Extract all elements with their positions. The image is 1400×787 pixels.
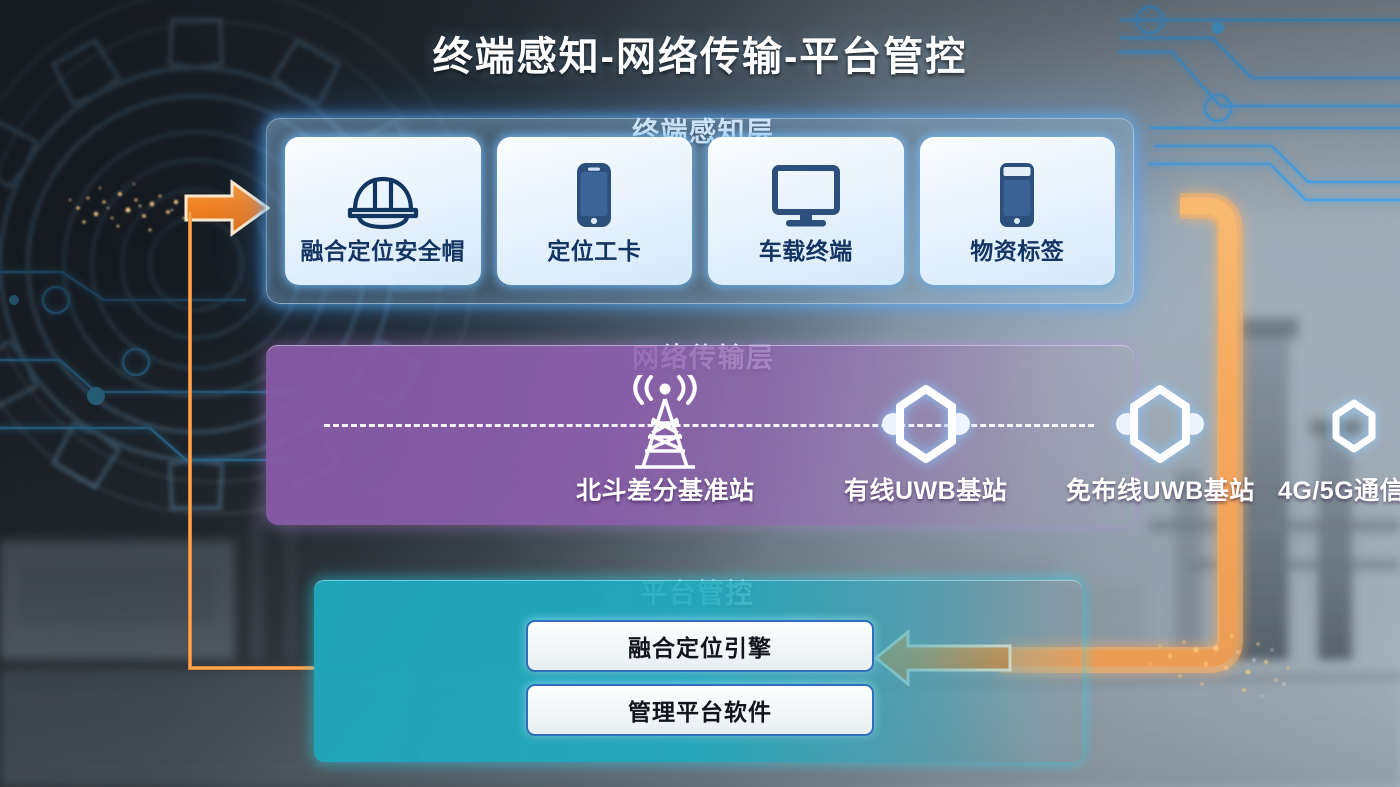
platform-button-software[interactable]: 管理平台软件 — [526, 684, 874, 736]
slide-title: 终端感知-网络传输-平台管控 — [0, 24, 1400, 82]
hexagon-node-icon — [1105, 375, 1215, 471]
network-node-wired-uwb[interactable]: 有线UWB基站 — [844, 375, 1007, 507]
terminal-card-vehicle[interactable]: 车载终端 — [708, 137, 904, 285]
slide-canvas: 终端感知-网络传输-平台管控 终端感知层 融合定位安全帽 — [0, 0, 1400, 787]
terminal-card-label: 物资标签 — [970, 232, 1064, 266]
platform-button-list: 融合定位引擎 管理平台软件 — [526, 620, 874, 736]
desktop-monitor-icon — [769, 156, 843, 230]
hexagon-small-icon — [1325, 375, 1383, 471]
network-node-wireless-uwb[interactable]: 免布线UWB基站 — [1066, 375, 1255, 507]
network-node-cellular[interactable]: 4G/5G通信路 — [1278, 375, 1400, 507]
tag-device-icon — [994, 156, 1040, 230]
platform-button-engine[interactable]: 融合定位引擎 — [526, 620, 874, 672]
mobile-phone-icon — [571, 156, 617, 230]
terminal-card-badge[interactable]: 定位工卡 — [497, 137, 693, 285]
platform-button-label: 管理平台软件 — [628, 693, 772, 727]
network-node-label: 北斗差分基准站 — [576, 471, 755, 507]
network-node-label: 4G/5G通信路 — [1278, 471, 1400, 507]
terminal-layer-panel: 融合定位安全帽 定位工卡 — [266, 118, 1134, 304]
hexagon-node-icon — [871, 375, 981, 471]
network-node-label: 有线UWB基站 — [844, 471, 1007, 507]
terminal-card-helmet[interactable]: 融合定位安全帽 — [285, 137, 481, 285]
terminal-card-label: 车载终端 — [759, 232, 853, 266]
platform-layer-panel: 融合定位引擎 管理平台软件 — [314, 580, 1082, 762]
network-node-list: 北斗差分基准站 有线UWB基站 — [266, 345, 1134, 525]
terminal-card-tag[interactable]: 物资标签 — [920, 137, 1116, 285]
network-node-beidou[interactable]: 北斗差分基准站 — [576, 375, 755, 507]
broadcast-tower-icon — [621, 375, 709, 471]
terminal-card-label: 定位工卡 — [547, 232, 641, 266]
terminal-card-label: 融合定位安全帽 — [301, 232, 466, 266]
platform-button-label: 融合定位引擎 — [628, 629, 772, 663]
network-layer-panel: 北斗差分基准站 有线UWB基站 — [266, 345, 1134, 525]
network-node-label: 免布线UWB基站 — [1066, 471, 1255, 507]
safety-helmet-icon — [345, 156, 421, 230]
terminal-card-list: 融合定位安全帽 定位工卡 — [267, 119, 1133, 303]
